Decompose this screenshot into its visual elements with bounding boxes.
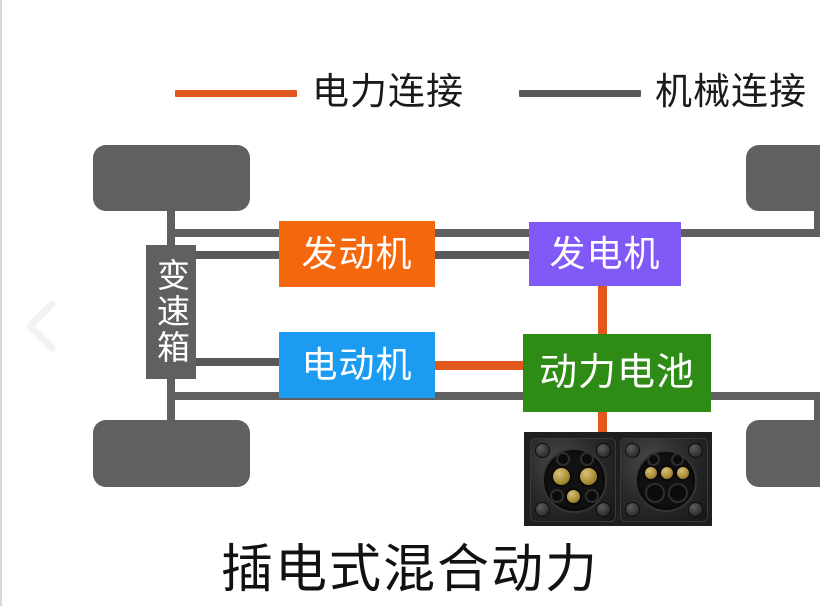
wheel-rear-right	[746, 420, 820, 487]
axle-stub-front-right	[814, 205, 820, 235]
component-battery-label: 动力电池	[539, 354, 695, 392]
charge-port-left-socket	[530, 438, 617, 523]
component-battery[interactable]: 动力电池	[523, 334, 711, 412]
component-motor[interactable]: 电动机	[279, 332, 435, 398]
connection-motor-battery	[430, 361, 534, 370]
charge-port-photo	[524, 432, 712, 526]
legend-swatch-mechanical	[519, 90, 641, 97]
component-transmission-label: 变速箱	[153, 258, 190, 366]
component-engine-label: 发动机	[301, 235, 412, 273]
diagram-title: 插电式混合动力	[0, 541, 820, 599]
axle-front	[167, 229, 820, 237]
connection-generator-battery	[598, 285, 607, 337]
wheel-rear-left	[93, 420, 250, 487]
component-generator-label: 发电机	[549, 235, 660, 273]
charge-port-right-socket	[620, 438, 708, 523]
connection-engine-generator	[430, 251, 534, 259]
plugin-hybrid-diagram: 电力连接 机械连接 变速箱 发动机 电动机 发电机 动力电池	[0, 0, 820, 606]
legend-label-mechanical: 机械连接	[655, 73, 807, 110]
wheel-front-right	[746, 145, 820, 211]
component-motor-label: 电动机	[301, 346, 412, 384]
legend-label-electric: 电力连接	[312, 73, 464, 110]
axle-rear	[167, 392, 820, 400]
left-edge-divider	[0, 0, 2, 606]
legend-swatch-electric	[175, 90, 297, 97]
component-generator[interactable]: 发电机	[529, 222, 681, 286]
wheel-front-left	[93, 145, 250, 211]
connection-transmission-engine	[196, 251, 282, 259]
chevron-left-icon[interactable]	[18, 296, 66, 356]
axle-stub-rear-right	[814, 396, 820, 424]
component-engine[interactable]: 发动机	[279, 221, 435, 287]
component-transmission[interactable]: 变速箱	[146, 245, 196, 379]
connection-transmission-motor	[196, 358, 282, 366]
